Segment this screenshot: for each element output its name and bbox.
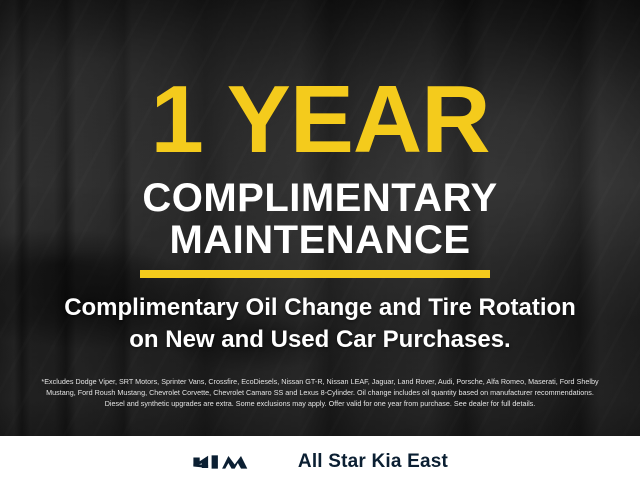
headline-maintenance: MAINTENANCE [0,220,640,260]
kia-logo [192,451,276,473]
disclaimer-line-2: Mustang, Ford Roush Mustang, Chevrolet C… [14,388,626,399]
headline-year: 1 YEAR [0,72,640,168]
headline-complimentary: COMPLIMENTARY [0,178,640,218]
disclaimer-line-1: *Excludes Dodge Viper, SRT Motors, Sprin… [14,377,626,388]
offer-line-1: Complimentary Oil Change and Tire Rotati… [0,292,640,323]
banner-content: 1 YEAR COMPLIMENTARY MAINTENANCE Complim… [0,0,640,436]
footer-bar: All Star Kia East [0,436,640,488]
offer-line-2: on New and Used Car Purchases. [0,324,640,355]
yellow-divider-bar [140,270,490,278]
disclaimer-text: *Excludes Dodge Viper, SRT Motors, Sprin… [14,377,626,409]
promotional-banner: 1 YEAR COMPLIMENTARY MAINTENANCE Complim… [0,0,640,488]
disclaimer-line-3: Diesel and synthetic upgrades are extra.… [14,399,626,410]
dealer-name: All Star Kia East [298,451,448,473]
